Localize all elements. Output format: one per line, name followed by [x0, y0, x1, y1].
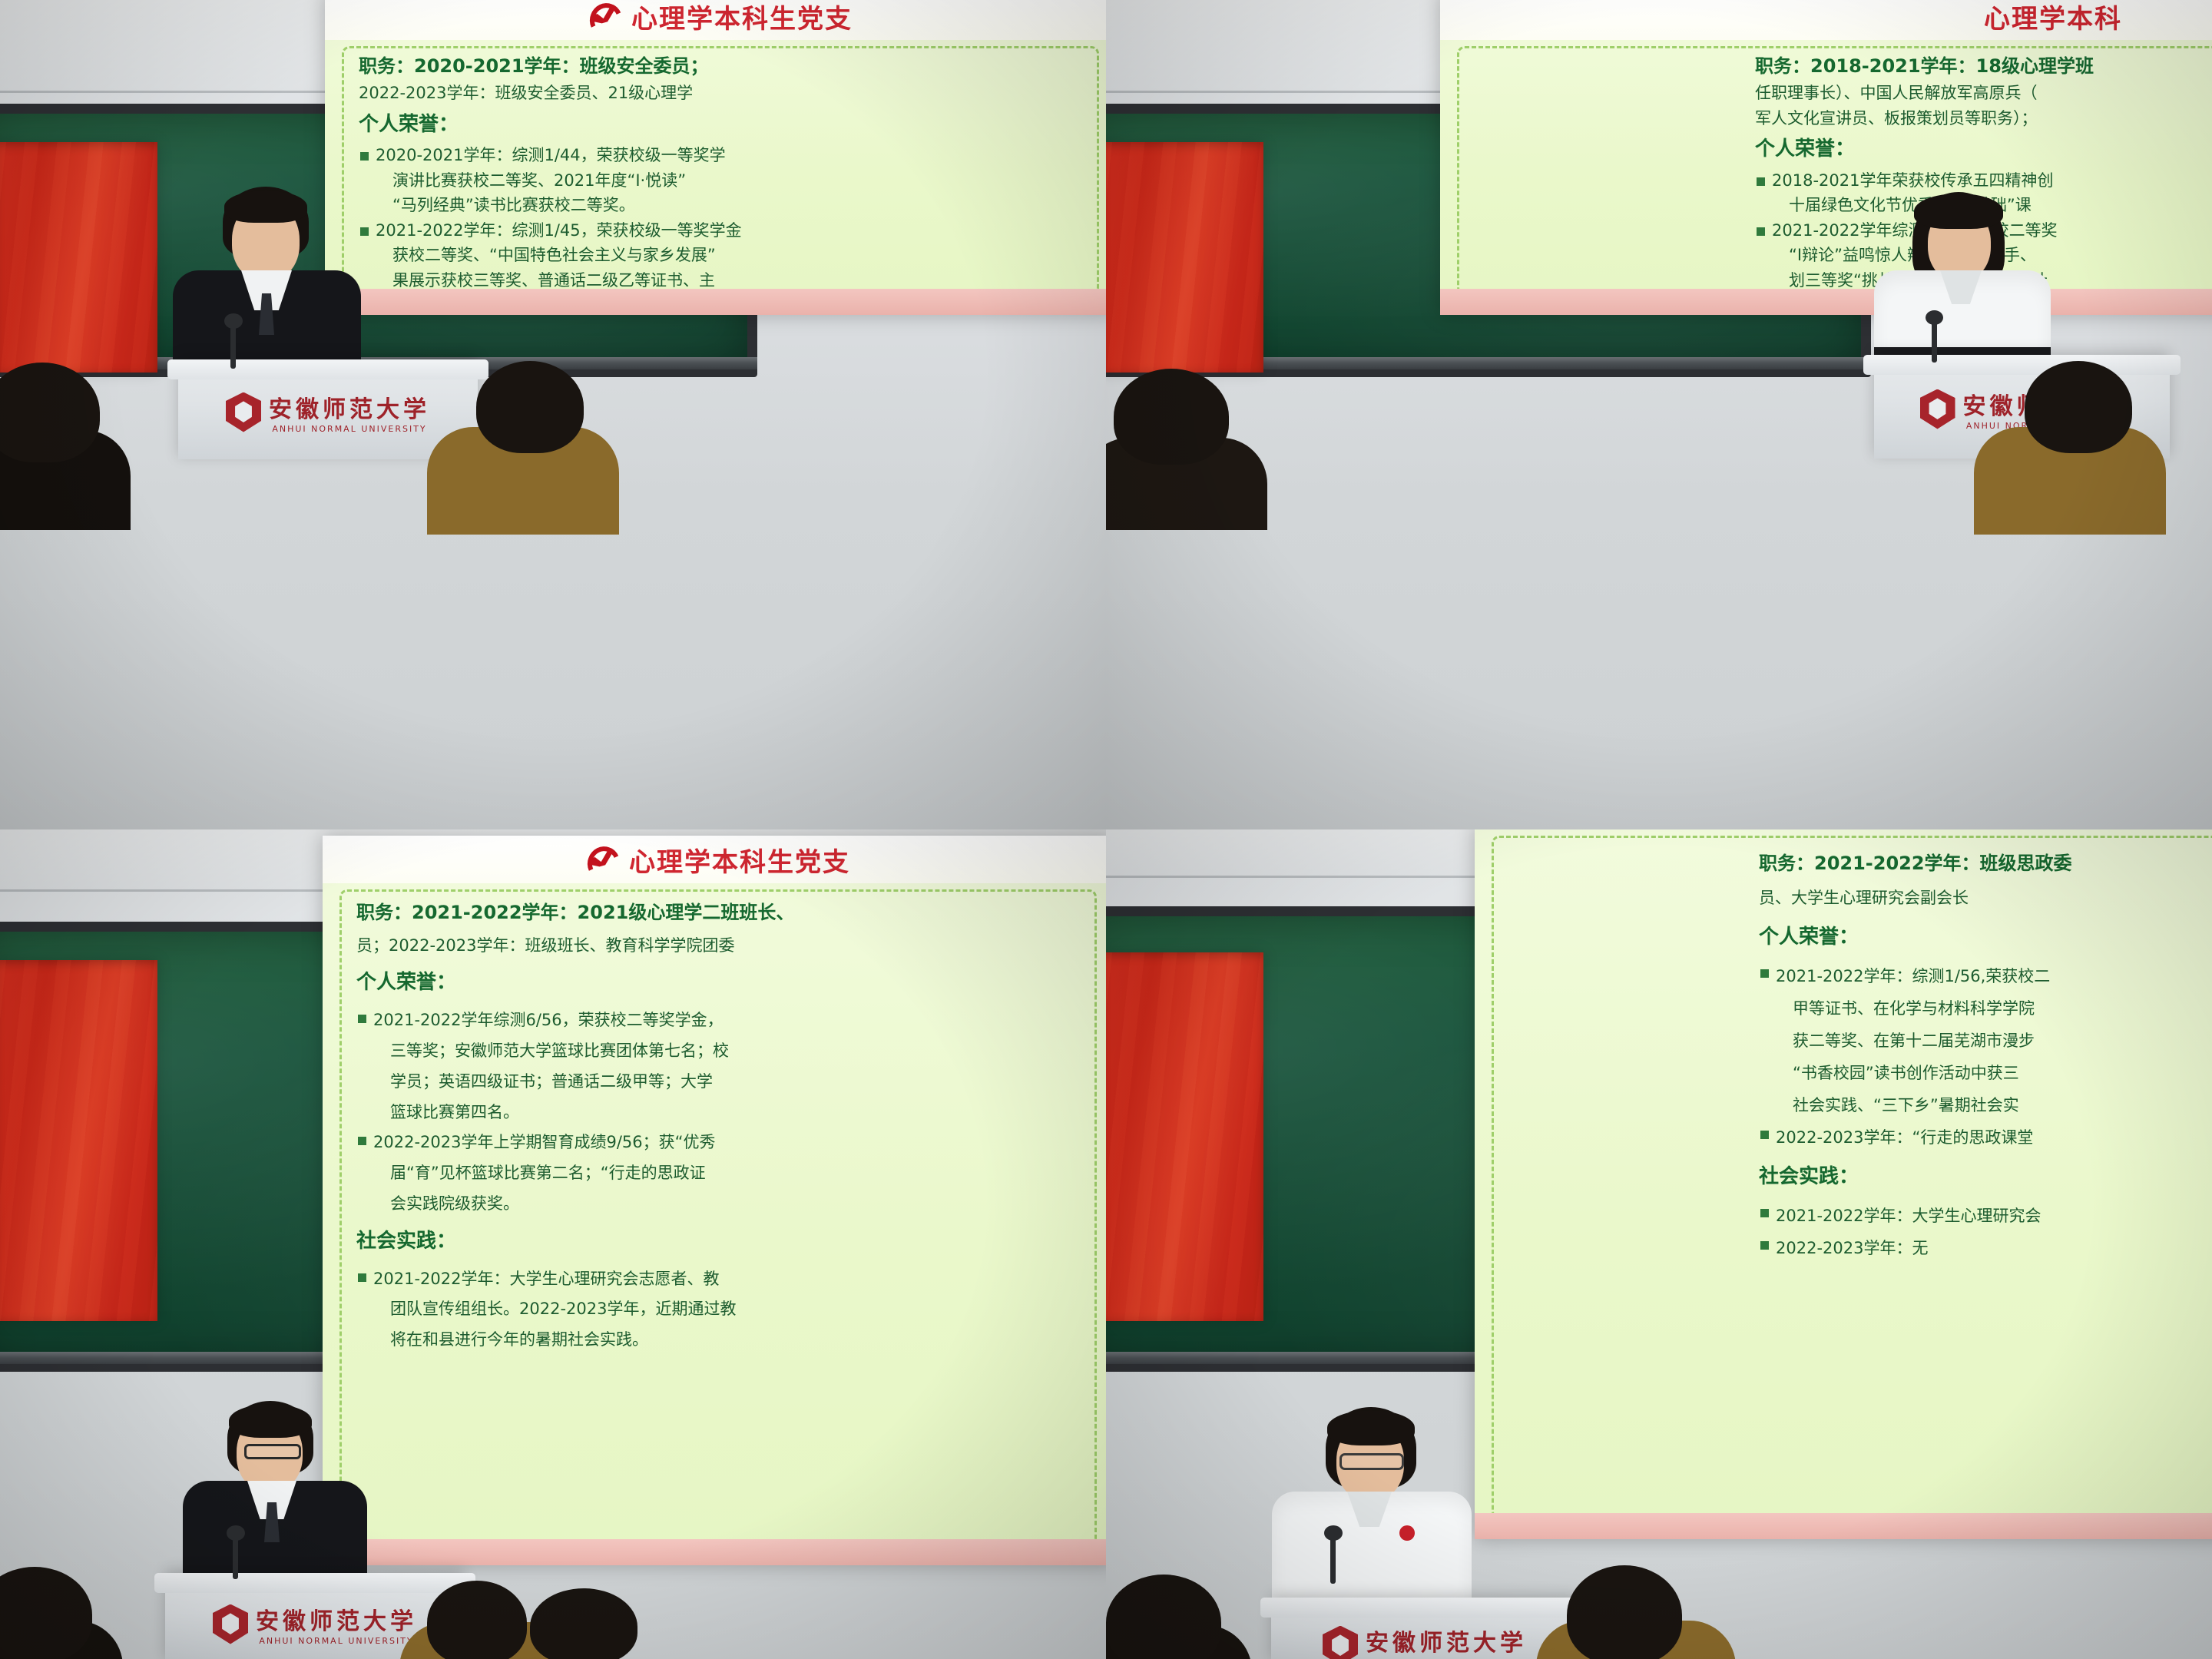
party-badge-icon — [1399, 1525, 1415, 1541]
audience-head — [1114, 369, 1229, 465]
slide-duty-line-1: 职务：2021-2022学年：2021级心理学二班班长、 — [356, 896, 1094, 931]
panel-bottom-right: 职务：2021-2022学年：班级思政委 员、大学生心理研究会副会长 个人荣誉：… — [1106, 829, 2212, 1659]
slide-honor-6: 届“育”见杯篮球比赛第二名；“行走的思政证 — [356, 1158, 1094, 1189]
podium-logo-cn: 安徽师范大学 — [256, 1602, 417, 1636]
slide-honor-4: “书香校园”读书创作活动中获三 — [1759, 1057, 2212, 1089]
shield-crest-icon — [213, 1604, 248, 1644]
slide-practice-1: 2021-2022学年：大学生心理研究会志愿者、教 — [356, 1264, 1094, 1295]
speaker-fringe — [1327, 1410, 1415, 1445]
speaker-glasses-icon — [1339, 1453, 1404, 1470]
slide-footer-band — [323, 1539, 1106, 1565]
microphone-stand — [1330, 1536, 1336, 1584]
speaker-fringe — [229, 1404, 312, 1438]
red-banner — [1106, 952, 1263, 1321]
slide-practice-3: 将在和县进行今年的暑期社会实践。 — [356, 1325, 1094, 1356]
slide-title: 心理学本科生党支 — [631, 0, 853, 35]
slide-duty-line-2: 任职理事长）、中国人民解放军高原兵（ — [1755, 81, 2212, 106]
red-banner — [1106, 142, 1263, 373]
slide-honor-1: 2018-2021学年荣获校传承五四精神创 — [1755, 168, 2212, 194]
slide-practice-2: 团队宣传组组长。2022-2023学年，近期通过教 — [356, 1294, 1094, 1325]
podium: 安徽师范大学 ANHUI NORMAL UNIVERSITY — [178, 359, 478, 459]
podium-university-logo: 安徽师范大学 ANHUI NORMAL UNIVERSITY — [1323, 1624, 1527, 1659]
audience-head — [1567, 1565, 1682, 1659]
audience-head — [427, 1581, 527, 1659]
podium-top-surface — [154, 1573, 475, 1593]
party-emblem-icon — [588, 0, 621, 32]
slide-honors-heading: 个人荣誉： — [359, 109, 1096, 140]
slide-title: 心理学本科生党支 — [629, 841, 850, 879]
slide-practice-heading: 社会实践： — [356, 1223, 1094, 1260]
slide-content: 职务：2021-2022学年：2021级心理学二班班长、 员；2022-2023… — [356, 896, 1094, 1548]
projection-screen: 心理学本科生党支 职务：2020-2021学年：班级安全委员； 2022-202… — [325, 0, 1106, 315]
slide-honor-1: 2021-2022学年综测6/56，荣获校二等奖学金， — [356, 1005, 1094, 1036]
slide-footer-band — [325, 289, 1106, 315]
podium-logo-en: ANHUI NORMAL UNIVERSITY — [269, 424, 430, 434]
projection-screen: 职务：2021-2022学年：班级思政委 员、大学生心理研究会副会长 个人荣誉：… — [1475, 829, 2212, 1539]
slide-practice-heading: 社会实践： — [1759, 1157, 2212, 1197]
slide-honor-3: 获二等奖、在第十二届芜湖市漫步 — [1759, 1025, 2212, 1057]
slide-footer-band — [1475, 1513, 2212, 1539]
podium-logo-cn: 安徽师范大学 — [1366, 1624, 1527, 1657]
shield-crest-icon — [226, 392, 261, 432]
slide-duty-line-2: 2022-2023学年：班级安全委员、21级心理学 — [359, 81, 1096, 106]
slide-honor-1: 2020-2021学年：综测1/44，荣获校级一等奖学 — [359, 143, 1096, 168]
slide-honor-7: 会实践院级获奖。 — [356, 1189, 1094, 1220]
speaker-fringe — [1914, 194, 2003, 229]
slide-duty-line-2: 员、大学生心理研究会副会长 — [1759, 882, 2212, 914]
microphone-stand — [233, 1535, 238, 1579]
slide-duty-line-1: 职务：2020-2021学年：班级安全委员； — [359, 52, 1096, 81]
shield-crest-icon — [1920, 389, 1955, 429]
speaker-glasses-icon — [244, 1444, 301, 1459]
slide-honors-heading: 个人荣誉： — [1755, 134, 2212, 164]
shield-crest-icon — [1323, 1626, 1358, 1659]
slide-honor-3: 学员；英语四级证书；普通话二级甲等；大学 — [356, 1067, 1094, 1098]
slide-content: 职务：2021-2022学年：班级思政委 员、大学生心理研究会副会长 个人荣誉：… — [1759, 845, 2212, 1522]
slide-honor-5: 获校二等奖、“中国特色社会主义与家乡发展” — [359, 243, 1096, 268]
audience-head — [2025, 361, 2132, 453]
slide-honor-5: 社会实践、“三下乡”暑期社会实 — [1759, 1089, 2212, 1121]
slide-honor-5: 2022-2023学年上学期智育成绩9/56；获“优秀 — [356, 1128, 1094, 1158]
podium-university-logo: 安徽师范大学 ANHUI NORMAL UNIVERSITY — [226, 390, 430, 434]
red-banner — [0, 142, 157, 373]
slide-honor-3: “马列经典”读书比赛获校二等奖。 — [359, 193, 1096, 218]
podium-top-surface — [1260, 1598, 1589, 1618]
projection-screen: 心理学本科 职务：2018-2021学年：18级心理学班 任职理事长）、中国人民… — [1440, 0, 2212, 315]
slide-honors-heading: 个人荣誉： — [356, 964, 1094, 1002]
panel-top-left: 心理学本科生党支 职务：2020-2021学年：班级安全委员； 2022-202… — [0, 0, 1106, 829]
red-banner — [0, 960, 157, 1321]
podium-top-surface — [1863, 355, 2181, 375]
four-panel-photo-grid: 心理学本科生党支 职务：2020-2021学年：班级安全委员； 2022-202… — [0, 0, 2212, 1659]
microphone-head — [1926, 310, 1943, 325]
slide-footer-band — [1440, 289, 2212, 315]
microphone-stand — [1932, 320, 1937, 363]
slide-duty-line-1: 职务：2021-2022学年：班级思政委 — [1759, 845, 2212, 882]
slide-header: 心理学本科 — [1440, 0, 2212, 40]
slide-practice-1: 2021-2022学年：大学生心理研究会 — [1759, 1200, 2212, 1232]
slide-title: 心理学本科 — [1984, 0, 2122, 35]
slide-header: 心理学本科生党支 — [323, 836, 1106, 883]
party-emblem-icon — [586, 843, 618, 876]
microphone-stand — [230, 323, 236, 369]
microphone-head — [1324, 1525, 1343, 1541]
projection-screen: 心理学本科生党支 职务：2021-2022学年：2021级心理学二班班长、 员；… — [323, 836, 1106, 1565]
slide-duty-line-3: 军人文化宣讲员、板报策划员等职务）； — [1755, 106, 2212, 131]
slide-duty-line-2: 员；2022-2023学年：班级班长、教育科学学院团委 — [356, 931, 1094, 962]
audience-head — [530, 1588, 637, 1659]
slide-header: 心理学本科生党支 — [325, 0, 1106, 40]
podium: 安徽师范大学 ANHUI NORMAL UNIVERSITY — [1271, 1598, 1578, 1659]
slide-content: 职务：2020-2021学年：班级安全委员； 2022-2023学年：班级安全委… — [359, 52, 1096, 298]
podium-top-surface — [167, 359, 488, 379]
slide-honor-1: 2021-2022学年：综测1/56,荣获校二 — [1759, 960, 2212, 992]
podium-logo-cn: 安徽师范大学 — [269, 390, 430, 424]
panel-top-right: 心理学本科 职务：2018-2021学年：18级心理学班 任职理事长）、中国人民… — [1106, 0, 2212, 829]
audience-head — [476, 361, 584, 453]
slide-honor-6: 2022-2023学年：“行走的思政课堂 — [1759, 1121, 2212, 1154]
slide-honors-heading: 个人荣誉： — [1759, 917, 2212, 957]
slide-duty-line-1: 职务：2018-2021学年：18级心理学班 — [1755, 52, 2212, 81]
slide-honor-2: 甲等证书、在化学与材料科学学院 — [1759, 992, 2212, 1025]
slide-practice-2: 2022-2023学年：无 — [1759, 1232, 2212, 1264]
podium-logo-en: ANHUI NORMAL UNIVERSITY — [256, 1636, 417, 1646]
slide-honor-2: 演讲比赛获校二等奖、2021年度“I·悦读” — [359, 168, 1096, 194]
microphone-head — [227, 1525, 245, 1541]
microphone-head — [224, 313, 243, 329]
podium-university-logo: 安徽师范大学 ANHUI NORMAL UNIVERSITY — [213, 1602, 417, 1646]
slide-honor-4: 篮球比赛第四名。 — [356, 1098, 1094, 1128]
panel-bottom-left: 心理学本科生党支 职务：2021-2022学年：2021级心理学二班班长、 员；… — [0, 829, 1106, 1659]
slide-honor-4: 2021-2022学年：综测1/45，荣获校级一等奖学金 — [359, 218, 1096, 243]
speaker-fringe — [224, 190, 307, 223]
slide-honor-2: 三等奖；安徽师范大学篮球比赛团体第七名；校 — [356, 1036, 1094, 1067]
